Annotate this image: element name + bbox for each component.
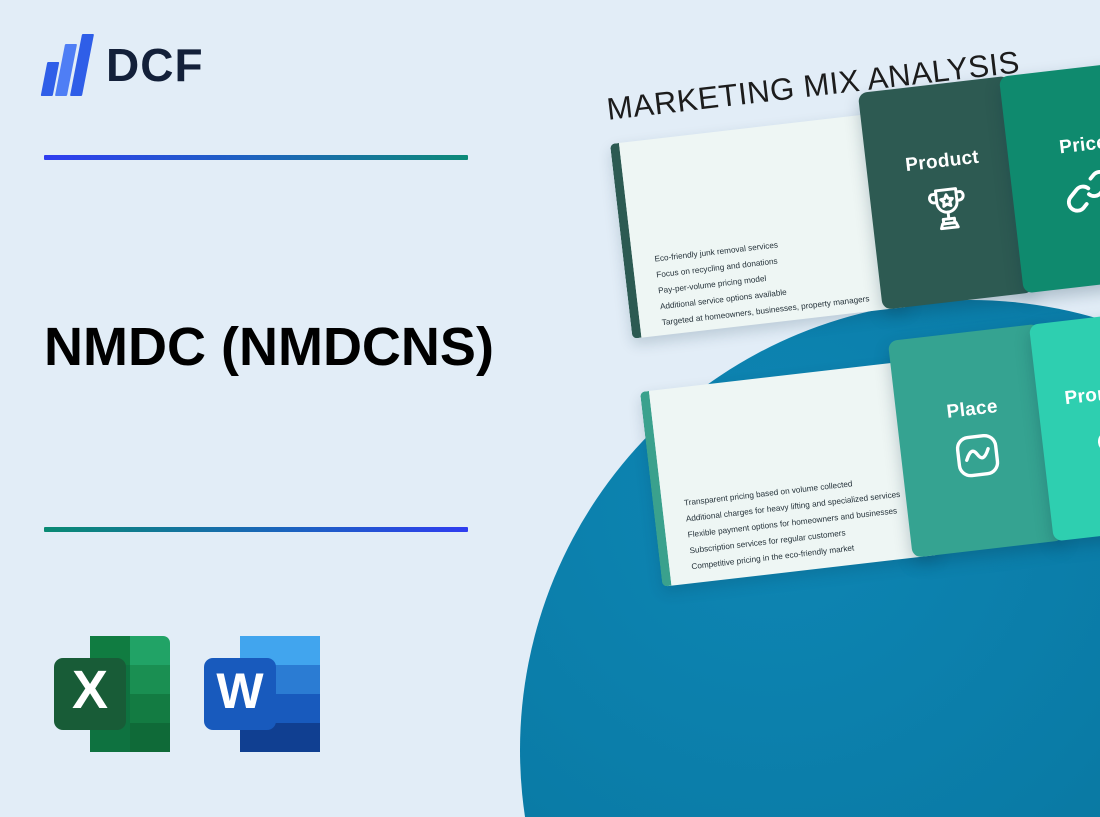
excel-file-icon[interactable]: X	[52, 632, 174, 756]
three-bars-logo-icon	[44, 34, 92, 96]
activity-wave-icon	[948, 426, 1008, 486]
price-bullet-list: Transparent pricing based on volume coll…	[684, 471, 929, 571]
svg-text:X: X	[72, 660, 108, 720]
divider-bottom	[44, 527, 468, 532]
tile-price-label: Price	[1058, 132, 1100, 159]
link-chain-icon	[1059, 161, 1100, 221]
brand-logo-text: DCF	[106, 42, 204, 88]
word-file-icon[interactable]: W	[202, 632, 324, 756]
tile-promotion-label: Promotion	[1064, 377, 1100, 410]
divider-top	[44, 155, 468, 160]
slide-canvas: DCF NMDC (NMDCNS) X	[0, 0, 1100, 817]
brand-logo[interactable]: DCF	[44, 34, 204, 96]
tile-product-label: Product	[904, 147, 980, 177]
trophy-icon	[918, 178, 978, 238]
svg-text:W: W	[216, 663, 264, 719]
file-icons: X W	[52, 632, 324, 756]
cloud-icon	[1089, 409, 1100, 469]
marketing-mix-deck: Eco-friendly junk removal services Focus…	[590, 60, 1100, 640]
product-bullet-list: Eco-friendly junk removal services Focus…	[654, 227, 899, 327]
page-title: NMDC (NMDCNS)	[44, 316, 494, 378]
tile-place-label: Place	[946, 396, 999, 424]
